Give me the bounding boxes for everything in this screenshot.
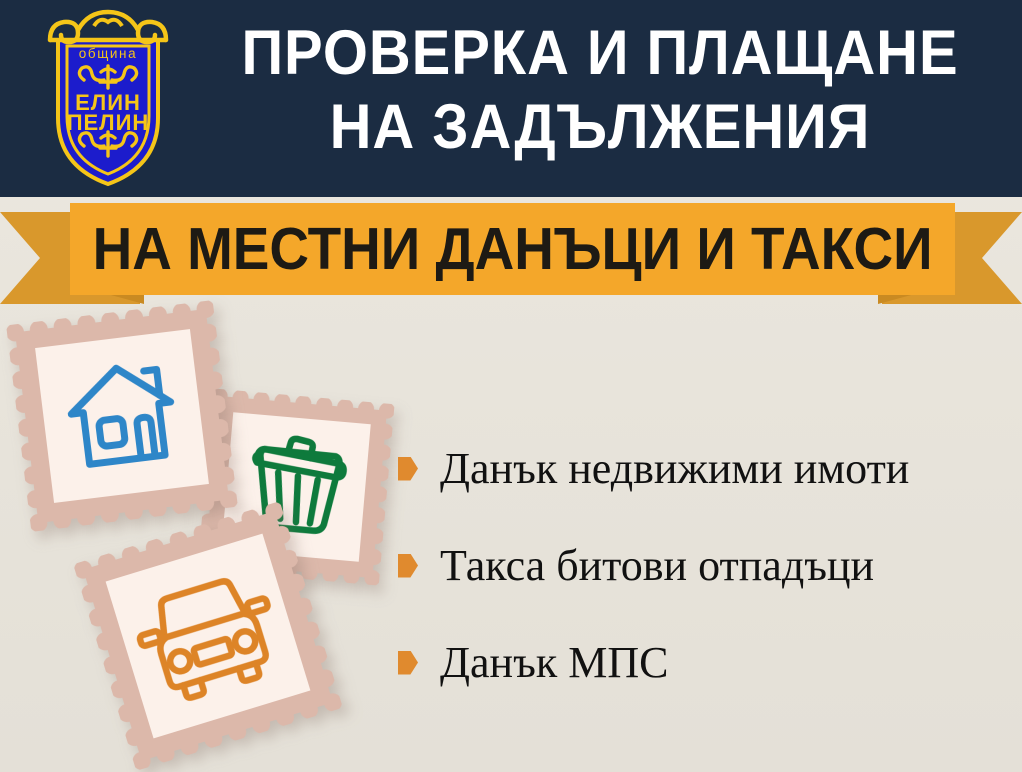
subtitle-ribbon: НА МЕСТНИ ДАНЪЦИ И ТАКСИ bbox=[0, 196, 1022, 308]
title-line-1: ПРОВЕРКА И ПЛАЩАНЕ bbox=[223, 16, 977, 90]
bullet-arrow-icon bbox=[398, 651, 418, 675]
coat-of-arms-icon: община ЕЛИН ПЕЛИН bbox=[28, 6, 188, 191]
poster-canvas: община ЕЛИН ПЕЛИН ПРОВЕРКА И ПЛАЩАНЕ НА … bbox=[0, 0, 1022, 772]
list-item[interactable]: Такса битови отпадъци bbox=[398, 517, 1008, 614]
bullet-arrow-icon bbox=[398, 457, 418, 481]
list-item-label: Данък МПС bbox=[440, 639, 668, 687]
list-item[interactable]: Данък недвижими имоти bbox=[398, 420, 1008, 517]
municipality-logo: община ЕЛИН ПЕЛИН bbox=[28, 6, 188, 191]
bullet-arrow-icon bbox=[398, 554, 418, 578]
ribbon-band: НА МЕСТНИ ДАНЪЦИ И ТАКСИ bbox=[70, 203, 955, 295]
header-bar: община ЕЛИН ПЕЛИН ПРОВЕРКА И ПЛАЩАНЕ НА … bbox=[0, 0, 1022, 197]
stamp-house-graphic bbox=[6, 300, 238, 532]
tax-types-list: Данък недвижими имоти Такса битови отпад… bbox=[398, 420, 1008, 711]
list-item-label: Данък недвижими имоти bbox=[440, 445, 909, 493]
page-title: ПРОВЕРКА И ПЛАЩАНЕ НА ЗАДЪЛЖЕНИЯ bbox=[190, 16, 1010, 164]
list-item[interactable]: Данък МПС bbox=[398, 614, 1008, 711]
title-line-2: НА ЗАДЪЛЖЕНИЯ bbox=[223, 90, 977, 164]
list-item-label: Такса битови отпадъци bbox=[440, 542, 874, 590]
logo-small-text: община bbox=[79, 46, 137, 61]
stamp-card-house bbox=[6, 300, 238, 532]
logo-name-line2: ПЕЛИН bbox=[67, 110, 150, 135]
ribbon-text: НА МЕСТНИ ДАНЪЦИ И ТАКСИ bbox=[93, 220, 933, 279]
